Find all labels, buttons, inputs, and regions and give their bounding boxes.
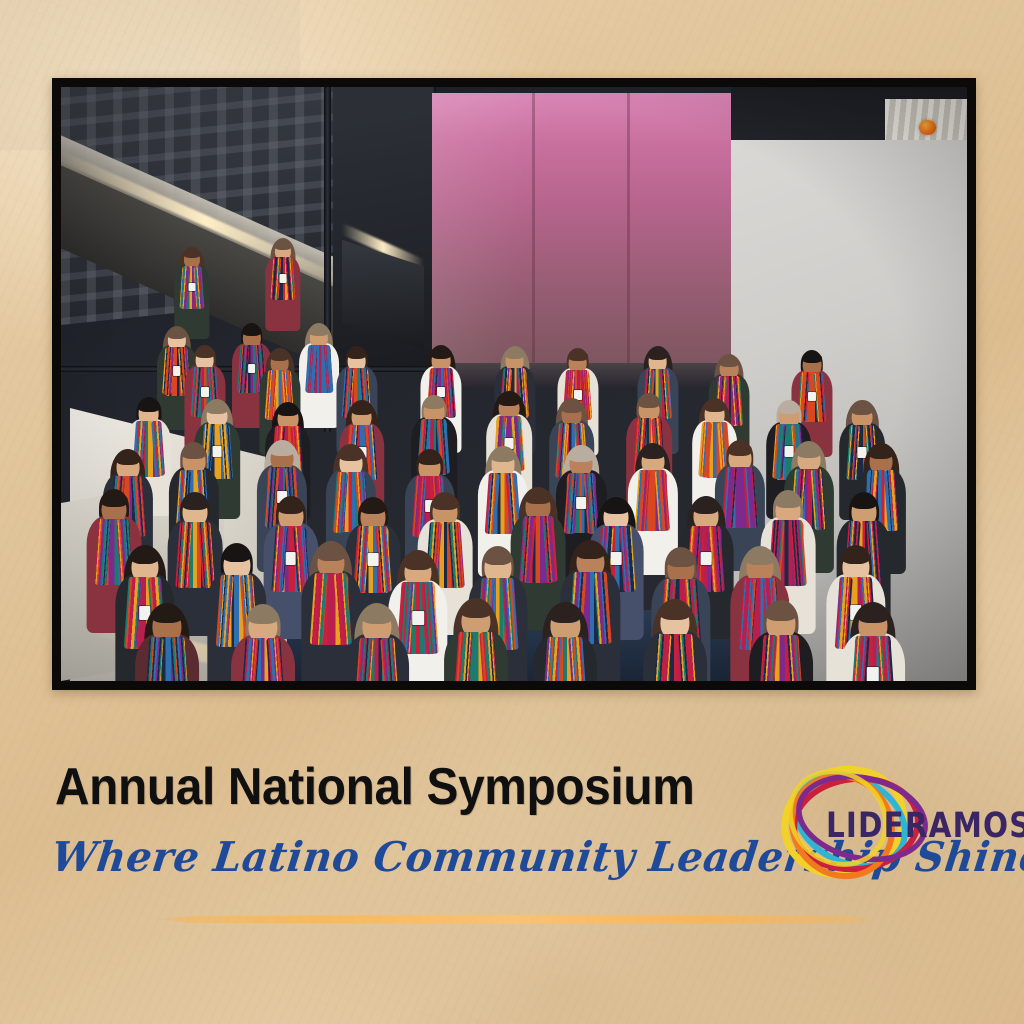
attendee-hair-fringe bbox=[857, 607, 888, 623]
attendee-figure bbox=[640, 599, 709, 681]
logo-wordmark: LIDERAMOS bbox=[826, 806, 1024, 846]
attendee-figure bbox=[343, 602, 412, 681]
attendee-hair-fringe bbox=[641, 447, 665, 460]
name-badge bbox=[173, 366, 181, 376]
attendee-hair-fringe bbox=[182, 446, 206, 459]
attendee-hair-fringe bbox=[460, 602, 491, 618]
attendee-hair-fringe bbox=[851, 404, 873, 415]
attendee-hair-fringe bbox=[362, 608, 393, 624]
group-photo-frame bbox=[52, 78, 976, 690]
attendee-hair-fringe bbox=[667, 552, 696, 567]
attendee-hair-fringe bbox=[423, 398, 445, 409]
attendee-hair-fringe bbox=[101, 493, 127, 507]
attendee-hair-fringe bbox=[347, 349, 367, 359]
woven-stole bbox=[458, 632, 494, 681]
name-badge bbox=[867, 667, 879, 681]
lideramos-logo[interactable]: LIDERAMOS bbox=[772, 752, 968, 892]
name-badge bbox=[189, 283, 196, 291]
attendee-hair-fringe bbox=[404, 555, 433, 570]
attendee-hair-fringe bbox=[693, 500, 719, 514]
attendee-hair-fringe bbox=[576, 545, 605, 560]
pink-lit-wall-panel bbox=[432, 93, 731, 366]
attendee-hair-fringe bbox=[778, 403, 800, 414]
attendee-figure bbox=[531, 601, 600, 681]
name-badge bbox=[201, 387, 209, 397]
attendee-hair-fringe bbox=[248, 608, 279, 624]
woven-stole bbox=[763, 635, 799, 681]
attendee-hair-fringe bbox=[850, 496, 876, 510]
name-badge bbox=[367, 553, 378, 566]
attendee-hair-fringe bbox=[745, 550, 774, 565]
attendee-hair-fringe bbox=[505, 349, 525, 359]
panel-seam bbox=[532, 93, 535, 366]
attendee-hair-fringe bbox=[603, 501, 629, 515]
attendee-hair-fringe bbox=[277, 405, 299, 416]
attendee-hair-fringe bbox=[183, 249, 200, 258]
attendee-hair-fringe bbox=[116, 452, 140, 465]
ornamental-divider bbox=[152, 915, 882, 924]
name-badge bbox=[279, 274, 286, 282]
attendee-hair-fringe bbox=[206, 403, 228, 414]
marigold-flower-icon bbox=[919, 120, 936, 135]
woven-stole bbox=[149, 637, 185, 681]
attendee-hair-fringe bbox=[704, 401, 726, 412]
attendee-hair-fringe bbox=[797, 445, 821, 458]
attendee-hair-fringe bbox=[569, 449, 593, 462]
attendee-hair-fringe bbox=[491, 449, 515, 462]
attendee-hair-fringe bbox=[483, 550, 512, 565]
attendee-hair-fringe bbox=[270, 351, 290, 361]
attendee-hair-fringe bbox=[417, 453, 441, 466]
attendee-hair-fringe bbox=[568, 351, 588, 361]
poster-canvas: Annual National Symposium Where Latino C… bbox=[0, 0, 1024, 1024]
woven-stole bbox=[657, 634, 693, 681]
attendee-figure bbox=[746, 599, 815, 681]
attendee-hair-fringe bbox=[802, 353, 822, 363]
woven-stole bbox=[547, 637, 583, 681]
attendee-hair-fringe bbox=[317, 546, 346, 561]
attendee-hair-fringe bbox=[182, 496, 208, 510]
attendee-hair-fringe bbox=[360, 501, 386, 515]
attendee-hair-fringe bbox=[270, 444, 294, 457]
attendee-hair-fringe bbox=[498, 395, 520, 406]
attendee-hair-fringe bbox=[222, 547, 251, 562]
attendee-hair-fringe bbox=[351, 404, 373, 415]
attendee-hair-fringe bbox=[525, 491, 551, 505]
attendee-hair-fringe bbox=[137, 400, 159, 411]
attendee-hair-fringe bbox=[130, 549, 159, 564]
attendee-hair-fringe bbox=[195, 348, 215, 358]
attendee-hair-fringe bbox=[431, 348, 451, 358]
attendee-figure bbox=[132, 602, 201, 681]
woven-stole bbox=[245, 638, 281, 681]
panel-seam bbox=[627, 93, 630, 366]
attendee-hair-fringe bbox=[775, 494, 801, 508]
attendee-hair-fringe bbox=[278, 500, 304, 514]
attendee-hair-fringe bbox=[339, 448, 363, 461]
attendee-hair-fringe bbox=[660, 604, 691, 620]
attendee-hair-fringe bbox=[841, 549, 870, 564]
attendee-hair-fringe bbox=[638, 397, 660, 408]
group-photo bbox=[61, 87, 967, 681]
attendee-hair-fringe bbox=[869, 447, 893, 460]
name-badge bbox=[248, 364, 256, 374]
attendee-figure bbox=[264, 238, 302, 331]
name-badge bbox=[576, 497, 586, 509]
attendee-hair-fringe bbox=[242, 326, 261, 336]
woven-stole bbox=[359, 638, 395, 681]
woven-stole bbox=[308, 345, 331, 393]
attendee-hair-fringe bbox=[310, 326, 329, 336]
attendee-hair-fringe bbox=[432, 496, 458, 510]
name-badge bbox=[412, 611, 424, 625]
attendee-figure bbox=[229, 603, 298, 681]
attendee-hair-fringe bbox=[167, 329, 186, 339]
attendee-hair-fringe bbox=[766, 605, 797, 621]
name-badge bbox=[285, 552, 296, 565]
attendee-hair-fringe bbox=[550, 607, 581, 623]
attendee-hair-fringe bbox=[152, 607, 183, 623]
attendee-hair-fringe bbox=[648, 349, 668, 359]
page-title: Annual National Symposium bbox=[55, 757, 694, 817]
attendee-hair-fringe bbox=[274, 241, 291, 250]
attendee-figure bbox=[838, 601, 907, 681]
attendee-hair-fringe bbox=[561, 401, 583, 412]
attendee-hair-fringe bbox=[719, 357, 739, 367]
attendee-hair-fringe bbox=[728, 443, 752, 456]
attendee-figure bbox=[441, 597, 510, 681]
